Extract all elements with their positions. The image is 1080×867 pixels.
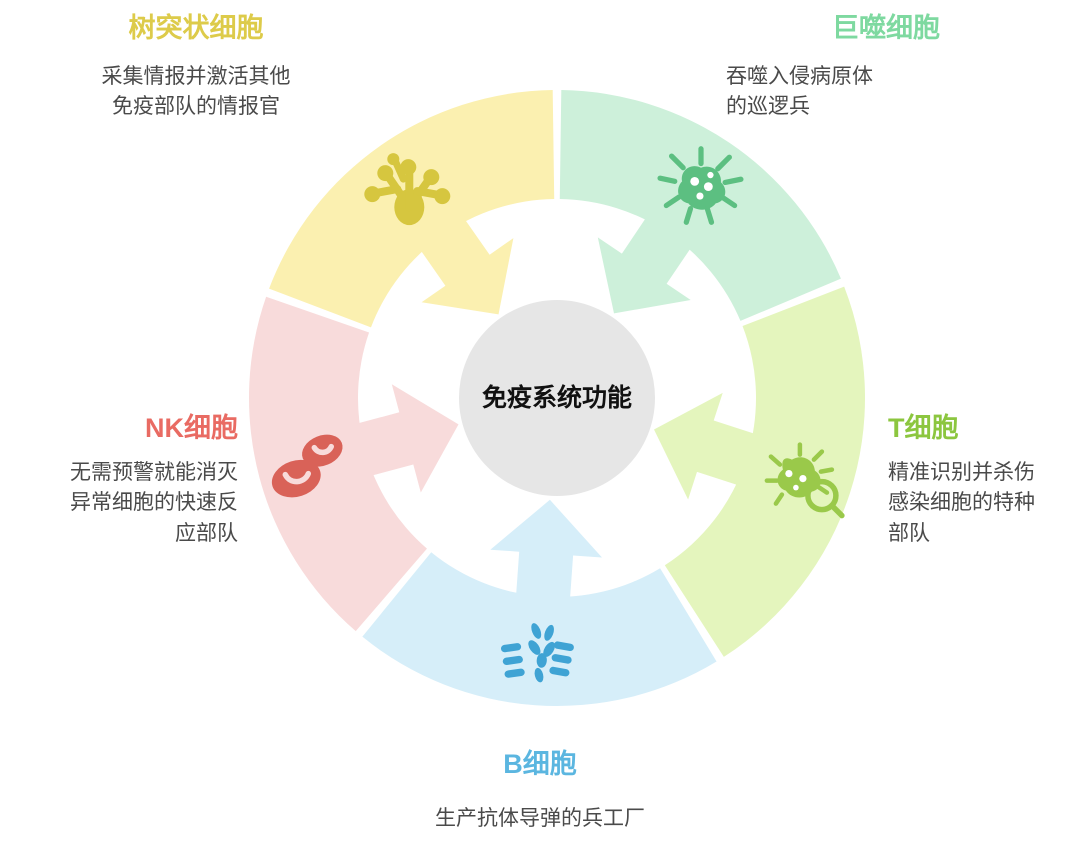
desc-line: 应部队: [14, 519, 238, 549]
desc-line: 无需预警就能消灭: [14, 458, 238, 488]
desc-line: 精准识别并杀伤: [888, 458, 1068, 488]
desc-line: 部队: [888, 519, 1068, 549]
desc-line: 的巡逻兵: [726, 92, 1046, 122]
segment-label-tcell: T细胞 精准识别并杀伤 感染细胞的特种 部队: [888, 412, 1068, 549]
segment-title-nkcell: NK细胞: [14, 412, 238, 446]
segment-label-nkcell: NK细胞 无需预警就能消灭 异常细胞的快速反 应部队: [14, 412, 238, 549]
segment-desc-nkcell: 无需预警就能消灭 异常细胞的快速反 应部队: [14, 458, 238, 549]
segment-label-bcell: B细胞 生产抗体导弹的兵工厂: [340, 748, 740, 834]
desc-line: 吞噬入侵病原体: [726, 62, 1046, 92]
desc-line: 免疫部队的情报官: [40, 92, 352, 122]
inward-arrow-bcell: [490, 500, 602, 601]
segment-title-bcell: B细胞: [340, 748, 740, 782]
immune-system-wheel-diagram: 免疫系统功能 树突状细胞 采集情报并激活其他 免疫部队的情报官 巨噬细胞 吞噬入…: [0, 0, 1080, 867]
segment-label-dendritic: 树突状细胞 采集情报并激活其他 免疫部队的情报官: [40, 12, 352, 123]
segment-label-macrophage: 巨噬细胞 吞噬入侵病原体 的巡逻兵: [726, 12, 1046, 123]
segment-title-macrophage: 巨噬细胞: [726, 12, 1046, 46]
segment-desc-dendritic: 采集情报并激活其他 免疫部队的情报官: [40, 62, 352, 123]
segment-desc-bcell: 生产抗体导弹的兵工厂: [340, 804, 740, 834]
desc-line: 生产抗体导弹的兵工厂: [340, 804, 740, 834]
desc-line: 异常细胞的快速反: [14, 488, 238, 518]
segment-title-dendritic: 树突状细胞: [40, 12, 352, 46]
center-hub-label: 免疫系统功能: [482, 383, 632, 412]
segment-desc-tcell: 精准识别并杀伤 感染细胞的特种 部队: [888, 458, 1068, 549]
segment-title-tcell: T细胞: [888, 412, 1068, 446]
desc-line: 采集情报并激活其他: [40, 62, 352, 92]
desc-line: 感染细胞的特种: [888, 488, 1068, 518]
segment-desc-macrophage: 吞噬入侵病原体 的巡逻兵: [726, 62, 1046, 123]
